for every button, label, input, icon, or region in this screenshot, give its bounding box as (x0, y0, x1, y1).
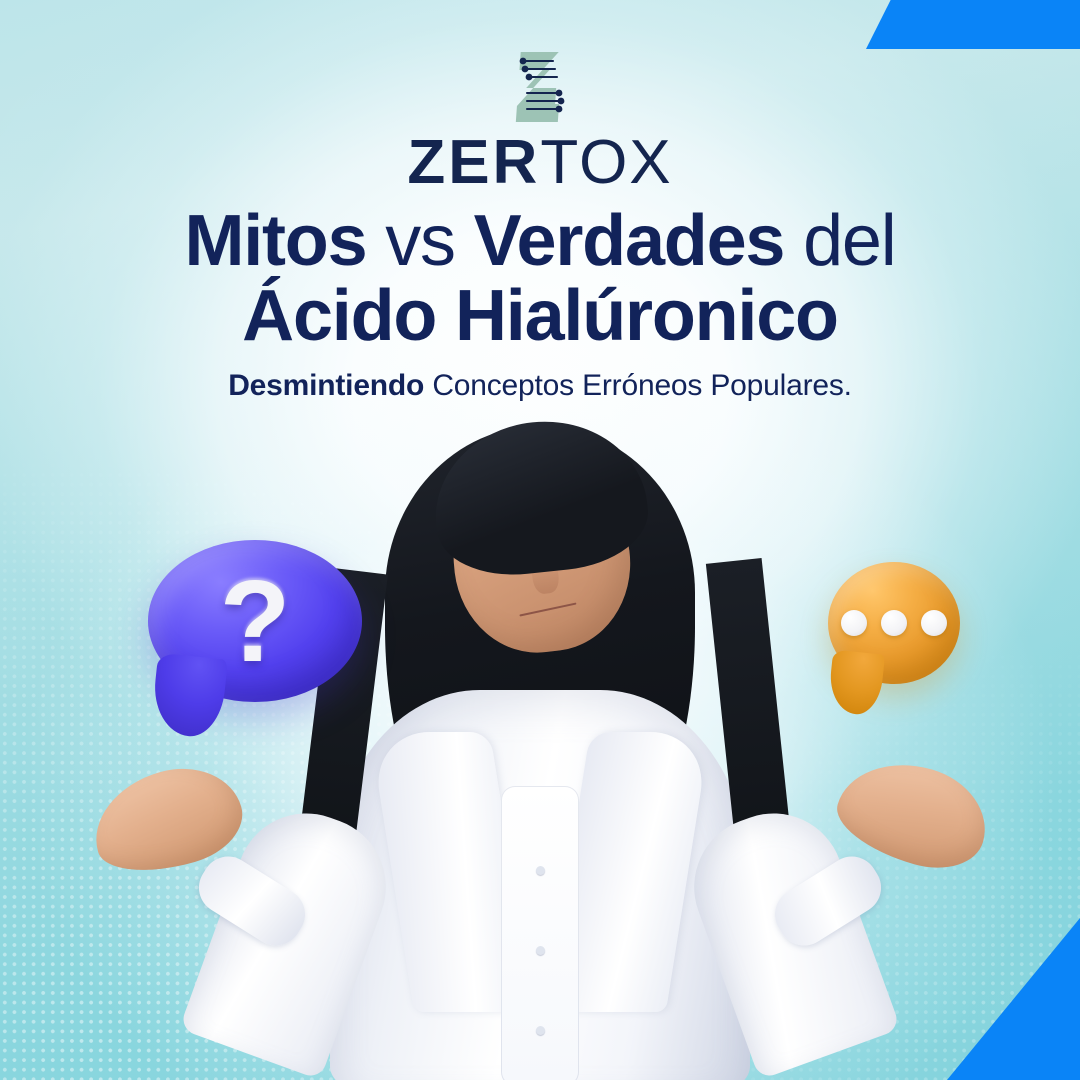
headline-word-verdades: Verdades (474, 201, 785, 281)
coat-button (536, 946, 545, 955)
lab-coat (330, 690, 750, 1080)
headline-word-vs: vs (385, 201, 455, 281)
coat-placket (501, 786, 579, 1080)
ellipsis-speech-bubble-icon (828, 562, 960, 684)
subtitle: Desmintiendo Conceptos Erróneos Populare… (40, 369, 1040, 402)
coat-button (536, 866, 545, 875)
headline-block: Mitos vs Verdades del Ácido Hialúronico … (0, 206, 1080, 402)
question-mark-glyph: ? (220, 563, 291, 679)
headline-word-del: del (803, 201, 895, 281)
coat-button (536, 1026, 545, 1035)
ellipsis-dot (841, 610, 867, 636)
dna-z-monogram-icon (497, 48, 583, 126)
headline-line-2: Ácido Hialúronico (40, 281, 1040, 352)
poster-canvas: ZERTOX ? Mitos vs Verdades del Ácido Hia… (0, 0, 1080, 1080)
mouth (513, 591, 583, 628)
wordmark-light: TOX (540, 132, 672, 194)
subtitle-strong: Desmintiendo (228, 369, 424, 402)
ellipsis-dot (921, 610, 947, 636)
top-right-accent-shape (866, 0, 1080, 49)
brand-lockup: ZERTOX (0, 48, 1080, 194)
brand-wordmark: ZERTOX (407, 132, 672, 194)
subject-photo (0, 420, 1080, 1080)
headline-word-mitos: Mitos (184, 201, 366, 281)
ellipsis-dots (841, 610, 947, 636)
question-mark-speech-bubble-icon: ? (148, 540, 362, 702)
wordmark-strong: ZER (407, 132, 540, 194)
headline-line-1: Mitos vs Verdades del (40, 206, 1040, 277)
subtitle-regular: Conceptos Erróneos Populares. (432, 369, 851, 402)
ellipsis-dot (881, 610, 907, 636)
